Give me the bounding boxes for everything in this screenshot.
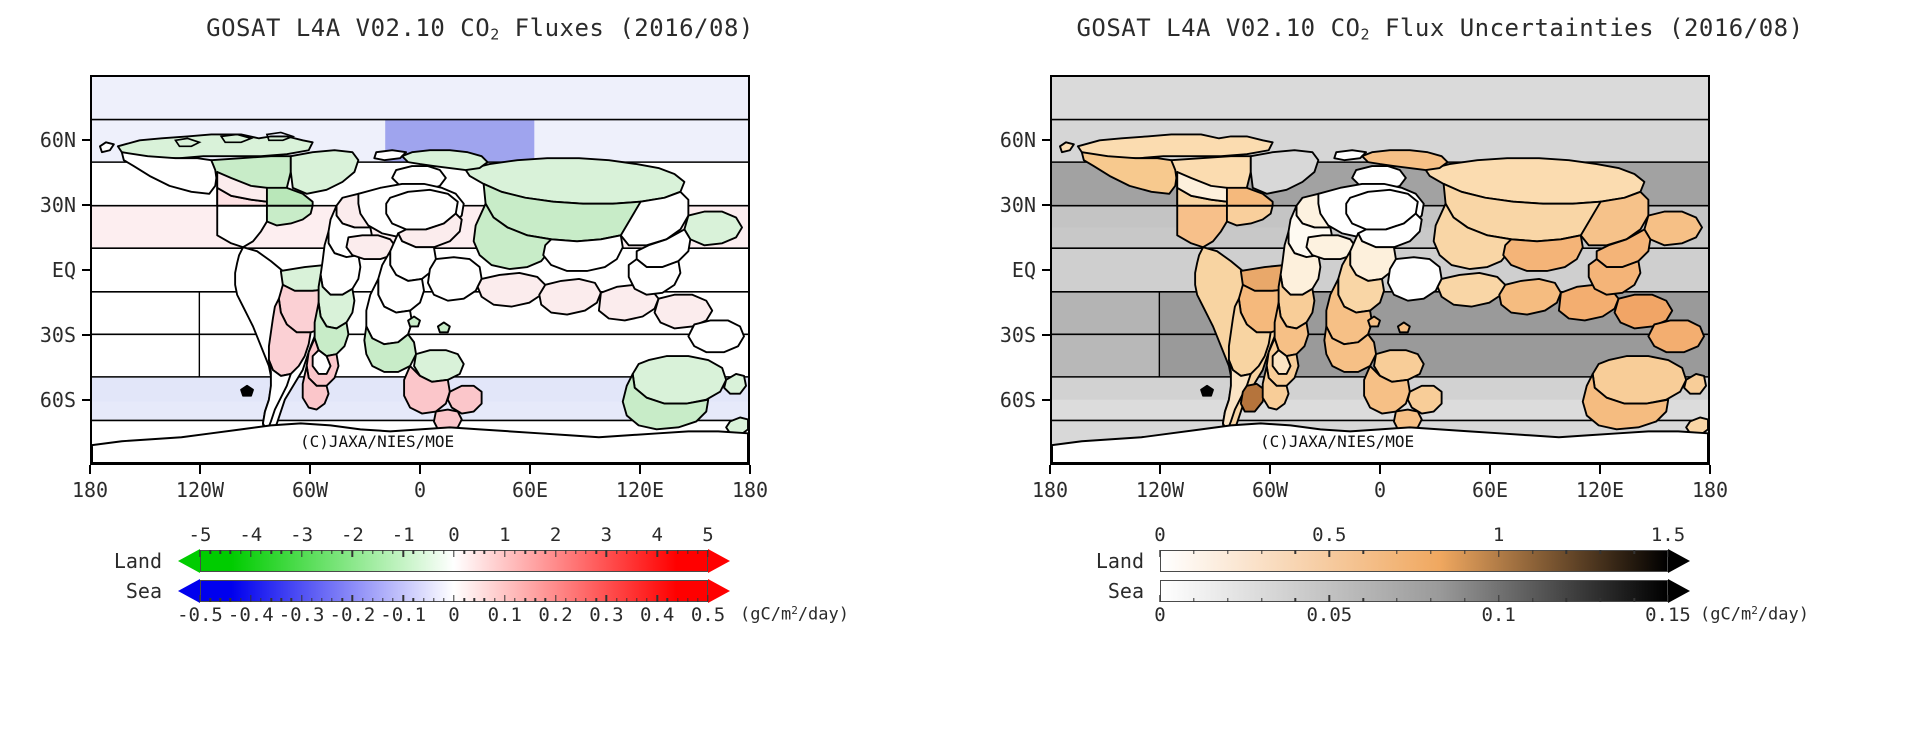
colorbar-tick-label: 3 [601, 524, 612, 546]
colorbar-minor-tick [311, 598, 312, 602]
colorbar-minor-tick [545, 550, 546, 554]
colorbar-tick-label: -4 [239, 524, 262, 546]
colorbar-minor-tick [1566, 598, 1567, 602]
colorbar-group-uncertainties: Land00.511.5Sea00.050.10.15(gC/m2/day) [960, 520, 1920, 640]
colorbar-tick-label: -3 [290, 524, 313, 546]
colorbar-tick-mark [606, 550, 607, 557]
colorbar-minor-tick [392, 550, 393, 554]
colorbar-minor-tick [524, 598, 525, 602]
colorbar-minor-tick [1227, 598, 1228, 602]
colorbar-minor-tick [1396, 550, 1397, 554]
y-tick-label-eq: EQ [966, 258, 1036, 282]
x-tick-mark [639, 465, 641, 474]
colorbar-minor-tick [392, 598, 393, 602]
colorbar-minor-tick [270, 550, 271, 554]
colorbar-minor-tick [687, 598, 688, 602]
colorbar-tick-mark [707, 550, 708, 557]
colorbar-row-label-sea: Sea [1072, 579, 1144, 603]
colorbar-tick-label: 0 [1154, 604, 1165, 626]
colorbar-tick-mark [250, 595, 251, 602]
colorbar-minor-tick [565, 550, 566, 554]
colorbar-minor-tick [596, 550, 597, 554]
colorbar-minor-tick [230, 550, 231, 554]
colorbar-tick-label: 1.5 [1651, 524, 1685, 546]
colorbar-minor-tick [646, 598, 647, 602]
colorbar-minor-tick [616, 550, 617, 554]
colorbar-tick-label: -1 [392, 524, 415, 546]
colorbar-tick-mark [606, 595, 607, 602]
colorbar-row-label-land: Land [1072, 549, 1144, 573]
colorbar-units: (gC/m2/day) [740, 604, 849, 625]
colorbar-minor-tick [1532, 550, 1533, 554]
colorbar-tick-label: 1 [1493, 524, 1504, 546]
colorbar-minor-tick [1430, 550, 1431, 554]
x-tick-mark [1489, 465, 1491, 474]
x-tick-mark [529, 465, 531, 474]
title-main: GOSAT L4A V02.10 CO [206, 14, 490, 42]
colorbar-minor-tick [474, 550, 475, 554]
y-tick-label-30s: 30S [6, 323, 76, 347]
colorbar-minor-tick [372, 550, 373, 554]
colorbar-minor-tick [626, 550, 627, 554]
panel-co2-flux-uncertainties: GOSAT L4A V02.10 CO2 Flux Uncertainties … [960, 0, 1920, 750]
colorbar-minor-tick [382, 550, 383, 554]
colorbar-tick-label: -0.2 [330, 604, 376, 626]
title-rest: Fluxes (2016/08) [500, 14, 754, 42]
x-tick-label-0: 0 [1374, 478, 1386, 502]
colorbar-minor-tick [240, 598, 241, 602]
colorbar-group-fluxes: Land-5-4-3-2-1012345Sea-0.5-0.4-0.3-0.2-… [0, 520, 960, 640]
credit-uncertainties: (C)JAXA/NIES/MOE [1260, 432, 1414, 451]
colorbar-minor-tick [677, 598, 678, 602]
colorbar-tick-label: -0.5 [177, 604, 223, 626]
colorbar-minor-tick [667, 598, 668, 602]
colorbar-minor-tick [677, 550, 678, 554]
colorbar-tick-mark [1667, 595, 1668, 602]
colorbar-minor-tick [484, 550, 485, 554]
x-tick-label-60e: 60E [1472, 478, 1508, 502]
colorbar-minor-tick [1600, 550, 1601, 554]
colorbar-tick-label: 0 [448, 524, 459, 546]
colorbar-minor-tick [281, 598, 282, 602]
colorbar-minor-tick [342, 598, 343, 602]
colorbar-tick-label: 2 [550, 524, 561, 546]
colorbar-tick-label: 0.5 [1312, 524, 1346, 546]
colorbar-sea [1160, 580, 1690, 602]
colorbar-tick-mark [707, 595, 708, 602]
colorbar-minor-tick [1396, 598, 1397, 602]
colorbar-minor-tick [494, 550, 495, 554]
x-tick-label-120e: 120E [1576, 478, 1624, 502]
y-tick-label-60n: 60N [966, 128, 1036, 152]
colorbar-tick-label: -0.3 [279, 604, 325, 626]
colorbar-tick-label: 0.2 [538, 604, 572, 626]
x-tick-label-180: 180 [72, 478, 108, 502]
colorbar-minor-tick [240, 550, 241, 554]
colorbar-minor-tick [463, 550, 464, 554]
colorbar-minor-tick [321, 598, 322, 602]
y-tick-label-60s: 60S [966, 388, 1036, 412]
figure-root: GOSAT L4A V02.10 CO2 Fluxes (2016/08) 60… [0, 0, 1920, 750]
x-tick-mark [419, 465, 421, 474]
x-tick-label-120e: 120E [616, 478, 664, 502]
colorbar-tick-mark [1329, 595, 1330, 602]
colorbar-row-label-land: Land [90, 549, 162, 573]
colorbar-minor-tick [524, 550, 525, 554]
colorbar-minor-tick [535, 550, 536, 554]
colorbar-tick-label: 0.3 [589, 604, 623, 626]
colorbar-arrow-high [1668, 579, 1690, 603]
colorbar-tick-label: 0 [1154, 524, 1165, 546]
colorbar-arrow-low [178, 579, 200, 603]
colorbar-tick-label: -2 [341, 524, 364, 546]
title-main: GOSAT L4A V02.10 CO [1076, 14, 1360, 42]
colorbar-tick-label: 0.4 [640, 604, 674, 626]
colorbar-arrow-high [708, 579, 730, 603]
colorbar-minor-tick [281, 550, 282, 554]
y-axis-right: 60N30NEQ30S60S [960, 75, 1050, 465]
colorbar-land [200, 550, 730, 572]
colorbar-tick-mark [352, 595, 353, 602]
colorbar-minor-tick [433, 598, 434, 602]
colorbar-minor-tick [1261, 598, 1262, 602]
y-tick-label-30n: 30N [6, 193, 76, 217]
colorbar-minor-tick [260, 550, 261, 554]
colorbar-tick-mark [199, 595, 200, 602]
colorbar-minor-tick [1633, 598, 1634, 602]
colorbar-minor-tick [1295, 550, 1296, 554]
colorbar-minor-tick [423, 550, 424, 554]
colorbar-tick-label: 0.1 [488, 604, 522, 626]
colorbar-minor-tick [382, 598, 383, 602]
colorbar-tick-label: 1 [499, 524, 510, 546]
title-subscript: 2 [1360, 25, 1370, 43]
colorbar-tick-mark [1159, 550, 1160, 557]
colorbar-tick-label: 0.1 [1481, 604, 1515, 626]
colorbar-minor-tick [1464, 550, 1465, 554]
colorbar-tick-label: 0.15 [1645, 604, 1691, 626]
x-tick-mark [1709, 465, 1711, 474]
colorbar-gradient [1160, 580, 1668, 602]
y-tick-label-eq: EQ [6, 258, 76, 282]
colorbar-minor-tick [474, 598, 475, 602]
colorbar-arrow-high [1668, 549, 1690, 573]
colorbar-tick-label: -0.4 [228, 604, 274, 626]
colorbar-minor-tick [585, 598, 586, 602]
colorbar-minor-tick [331, 550, 332, 554]
colorbar-tick-mark [504, 595, 505, 602]
panel-co2-fluxes: GOSAT L4A V02.10 CO2 Fluxes (2016/08) 60… [0, 0, 960, 750]
colorbar-minor-tick [1295, 598, 1296, 602]
colorbar-minor-tick [443, 598, 444, 602]
colorbar-minor-tick [636, 598, 637, 602]
colorbar-tick-label: 0 [448, 604, 459, 626]
colorbar-minor-tick [230, 598, 231, 602]
title-subscript: 2 [490, 25, 500, 43]
colorbar-tick-mark [656, 595, 657, 602]
colorbar-tick-mark [1159, 595, 1160, 602]
x-tick-label-60w: 60W [1252, 478, 1288, 502]
colorbar-minor-tick [321, 550, 322, 554]
colorbar-arrow-low [178, 549, 200, 573]
x-tick-mark [309, 465, 311, 474]
colorbar-minor-tick [1600, 598, 1601, 602]
colorbar-minor-tick [260, 598, 261, 602]
colorbar-minor-tick [291, 550, 292, 554]
colorbar-minor-tick [697, 550, 698, 554]
colorbar-minor-tick [1464, 598, 1465, 602]
x-tick-label-180: 180 [732, 478, 768, 502]
panel-title-fluxes: GOSAT L4A V02.10 CO2 Fluxes (2016/08) [0, 14, 960, 43]
colorbar-tick-mark [402, 595, 403, 602]
colorbar-tick-label: 0.05 [1306, 604, 1352, 626]
y-tick-label-60s: 60S [6, 388, 76, 412]
colorbar-minor-tick [565, 598, 566, 602]
colorbar-tick-mark [1329, 550, 1330, 557]
colorbar-tick-mark [453, 550, 454, 557]
colorbar-tick-label: -5 [189, 524, 212, 546]
x-tick-mark [1599, 465, 1601, 474]
colorbar-row-label-sea: Sea [90, 579, 162, 603]
colorbar-tick-mark [301, 550, 302, 557]
colorbar-minor-tick [311, 550, 312, 554]
y-tick-label-30s: 30S [966, 323, 1036, 347]
colorbar-tick-mark [555, 550, 556, 557]
colorbar-minor-tick [636, 550, 637, 554]
colorbar-tick-mark [1498, 595, 1499, 602]
colorbar-minor-tick [413, 550, 414, 554]
map-uncertainties [1050, 75, 1710, 465]
y-axis-left: 60N30NEQ30S60S [0, 75, 90, 465]
title-rest: Flux Uncertainties (2016/08) [1370, 14, 1804, 42]
y-tick-label-30n: 30N [966, 193, 1036, 217]
colorbar-tick-mark [352, 550, 353, 557]
colorbar-minor-tick [535, 598, 536, 602]
colorbar-gradient [1160, 550, 1668, 572]
map-fluxes [90, 75, 750, 465]
colorbar-minor-tick [646, 550, 647, 554]
colorbar-minor-tick [220, 550, 221, 554]
map-svg-uncertainties [1052, 77, 1708, 463]
colorbar-minor-tick [331, 598, 332, 602]
colorbar-minor-tick [1362, 550, 1363, 554]
colorbar-minor-tick [687, 550, 688, 554]
colorbar-minor-tick [342, 550, 343, 554]
colorbar-land [1160, 550, 1690, 572]
colorbar-tick-mark [1667, 550, 1668, 557]
x-tick-mark [1049, 465, 1051, 474]
colorbar-tick-label: 4 [651, 524, 662, 546]
colorbar-sea [200, 580, 730, 602]
x-tick-label-180: 180 [1692, 478, 1728, 502]
colorbar-minor-tick [1227, 550, 1228, 554]
colorbar-minor-tick [1193, 550, 1194, 554]
colorbar-tick-label: -0.1 [380, 604, 426, 626]
colorbar-minor-tick [1532, 598, 1533, 602]
colorbar-tick-mark [453, 595, 454, 602]
colorbar-minor-tick [575, 550, 576, 554]
colorbar-minor-tick [1362, 598, 1363, 602]
colorbar-tick-mark [250, 550, 251, 557]
colorbar-minor-tick [585, 550, 586, 554]
map-svg-fluxes [92, 77, 748, 463]
colorbar-arrow-high [708, 549, 730, 573]
colorbar-minor-tick [514, 550, 515, 554]
colorbar-tick-mark [402, 550, 403, 557]
colorbar-minor-tick [1430, 598, 1431, 602]
colorbar-minor-tick [413, 598, 414, 602]
x-tick-label-60e: 60E [512, 478, 548, 502]
colorbar-tick-mark [555, 595, 556, 602]
colorbar-minor-tick [463, 598, 464, 602]
colorbar-units: (gC/m2/day) [1700, 604, 1809, 625]
colorbar-minor-tick [443, 550, 444, 554]
colorbar-minor-tick [1633, 550, 1634, 554]
x-tick-label-0: 0 [414, 478, 426, 502]
colorbar-minor-tick [423, 598, 424, 602]
colorbar-minor-tick [270, 598, 271, 602]
colorbar-tick-mark [301, 595, 302, 602]
panel-title-uncertainties: GOSAT L4A V02.10 CO2 Flux Uncertainties … [960, 14, 1920, 43]
colorbar-minor-tick [484, 598, 485, 602]
colorbar-tick-label: 0.5 [691, 604, 725, 626]
colorbar-minor-tick [291, 598, 292, 602]
colorbar-minor-tick [372, 598, 373, 602]
colorbar-tick-mark [199, 550, 200, 557]
colorbar-minor-tick [596, 598, 597, 602]
colorbar-minor-tick [545, 598, 546, 602]
y-tick-label-60n: 60N [6, 128, 76, 152]
colorbar-minor-tick [362, 598, 363, 602]
x-tick-mark [749, 465, 751, 474]
colorbar-tick-mark [1498, 550, 1499, 557]
colorbar-tick-label: 5 [702, 524, 713, 546]
colorbar-minor-tick [1193, 598, 1194, 602]
x-tick-label-60w: 60W [292, 478, 328, 502]
colorbar-tick-mark [656, 550, 657, 557]
x-tick-label-180: 180 [1032, 478, 1068, 502]
x-axis-uncertainties: 180120W60W060E120E180 [1050, 465, 1710, 511]
x-tick-mark [1159, 465, 1161, 474]
x-axis-fluxes: 180120W60W060E120E180 [90, 465, 750, 511]
colorbar-minor-tick [220, 598, 221, 602]
x-tick-mark [199, 465, 201, 474]
colorbar-minor-tick [1566, 550, 1567, 554]
x-tick-mark [1269, 465, 1271, 474]
colorbar-minor-tick [494, 598, 495, 602]
colorbar-minor-tick [362, 550, 363, 554]
colorbar-minor-tick [209, 598, 210, 602]
colorbar-minor-tick [697, 598, 698, 602]
x-tick-mark [89, 465, 91, 474]
colorbar-minor-tick [667, 550, 668, 554]
x-tick-label-120w: 120W [1136, 478, 1184, 502]
colorbar-minor-tick [433, 550, 434, 554]
colorbar-minor-tick [626, 598, 627, 602]
colorbar-tick-mark [504, 550, 505, 557]
credit-fluxes: (C)JAXA/NIES/MOE [300, 432, 454, 451]
colorbar-minor-tick [209, 550, 210, 554]
colorbar-minor-tick [1261, 550, 1262, 554]
x-tick-mark [1379, 465, 1381, 474]
colorbar-minor-tick [616, 598, 617, 602]
colorbar-minor-tick [514, 598, 515, 602]
x-tick-label-120w: 120W [176, 478, 224, 502]
colorbar-minor-tick [575, 598, 576, 602]
